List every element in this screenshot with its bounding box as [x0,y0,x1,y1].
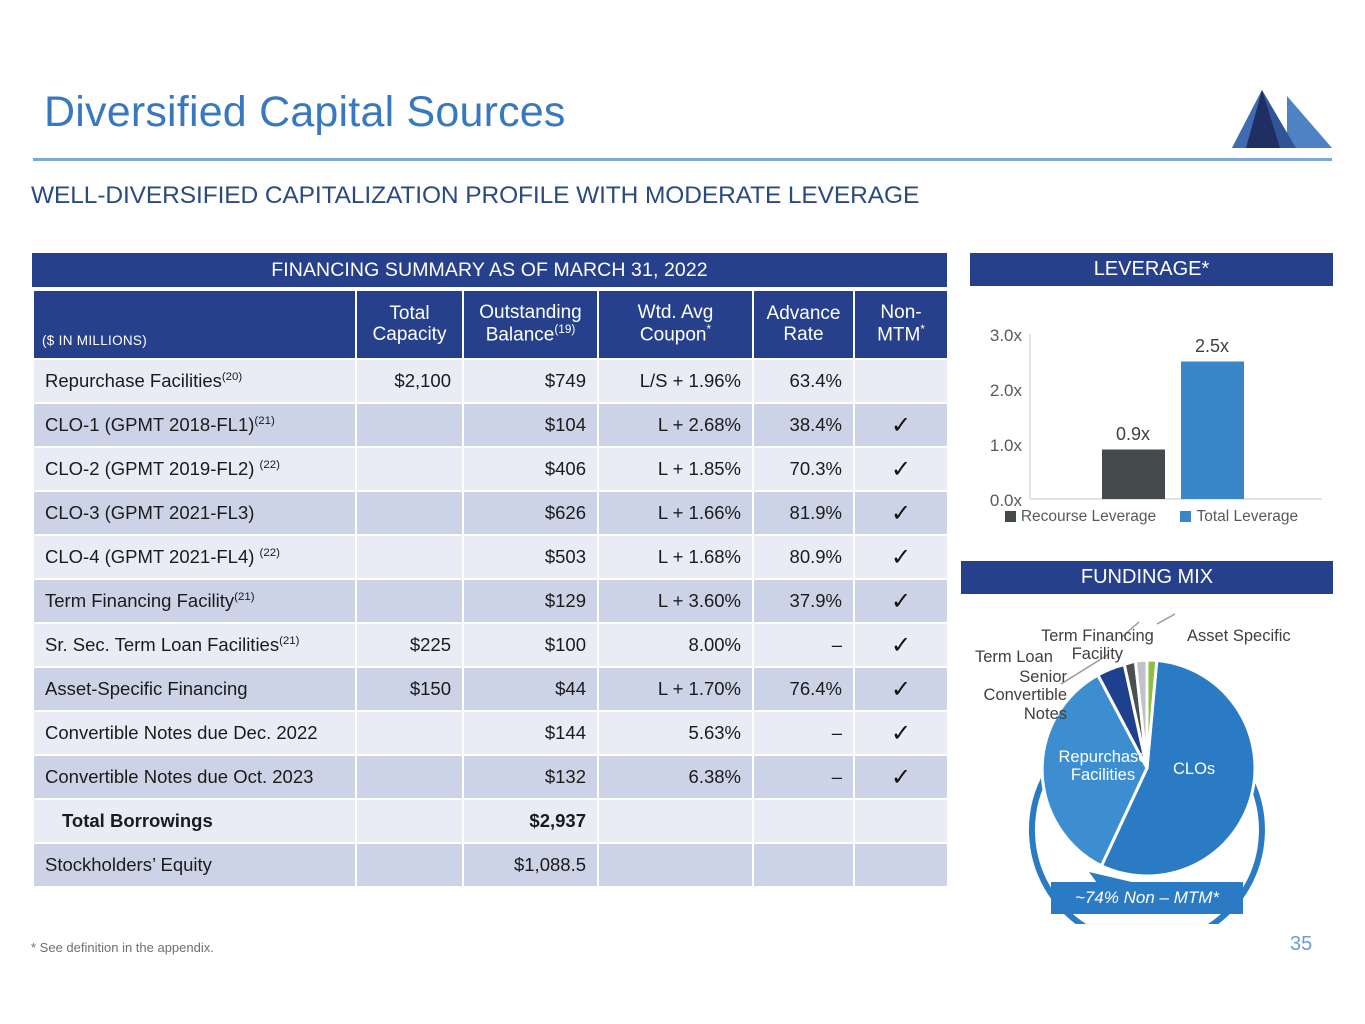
cell-outstanding-balance: $2,937 [463,799,598,843]
cell-total-capacity: $150 [356,667,463,711]
cell-advance-rate: 76.4% [753,667,854,711]
cell-advance-rate: 37.9% [753,579,854,623]
cell-wtd-avg-coupon [598,799,753,843]
cell-non-mtm-check: ✓ [854,579,948,623]
table-row: Stockholders’ Equity$1,088.5 [33,843,948,887]
cell-wtd-avg-coupon: L + 1.68% [598,535,753,579]
cell-advance-rate: 38.4% [753,403,854,447]
cell-outstanding-balance: $144 [463,711,598,755]
svg-text:2.0x: 2.0x [990,381,1023,400]
cell-wtd-avg-coupon: L + 2.68% [598,403,753,447]
legend-label-recourse: Recourse Leverage [1021,508,1156,525]
col-wtd-avg-coupon: Wtd. Avg Coupon* [598,290,753,359]
table-row: CLO-2 (GPMT 2019-FL2) (22)$406L + 1.85%7… [33,447,948,491]
cell-outstanding-balance: $104 [463,403,598,447]
cell-outstanding-balance: $406 [463,447,598,491]
row-label: Repurchase Facilities(20) [33,359,356,403]
pie-label-term-fin-line1: Term Financing [1041,627,1154,645]
table-row: CLO-4 (GPMT 2021-FL4) (22)$503L + 1.68%8… [33,535,948,579]
cell-advance-rate: 63.4% [753,359,854,403]
row-label: Asset-Specific Financing [33,667,356,711]
table-row: Asset-Specific Financing$150$44L + 1.70%… [33,667,948,711]
cell-total-capacity [356,535,463,579]
non-mtm-badge: ~74% Non – MTM* [1051,882,1243,914]
col-outstanding-balance-line1: Outstanding [479,302,581,323]
row-label: CLO-1 (GPMT 2018-FL1)(21) [33,403,356,447]
row-label: Convertible Notes due Dec. 2022 [33,711,356,755]
leverage-panel: LEVERAGE* 3.0x 2.0x 1.0x 0.0x 0.9x 2.5x … [970,253,1333,541]
table-row: Repurchase Facilities(20)$2,100$749L/S +… [33,359,948,403]
page-number: 35 [1290,933,1312,956]
svg-text:3.0x: 3.0x [990,326,1023,345]
leverage-banner: LEVERAGE* [970,253,1333,286]
title-divider [33,158,1332,161]
cell-non-mtm-check [854,359,948,403]
row-label-footnote: (22) [260,459,280,471]
pie-label-term-financing-facility: Term Financing Facility [1041,627,1154,664]
cell-total-capacity [356,799,463,843]
cell-outstanding-balance: $1,088.5 [463,843,598,887]
pie-label-repurchase-line2: Facilities [1071,766,1135,784]
pie-label-repurchase: Repurchase Facilities [1048,748,1158,785]
footnote: * See definition in the appendix. [31,940,214,955]
cell-advance-rate: – [753,711,854,755]
cell-non-mtm-check: ✓ [854,711,948,755]
cell-wtd-avg-coupon: 8.00% [598,623,753,667]
row-label-footnote: (21) [234,591,254,603]
financing-summary-banner: FINANCING SUMMARY AS OF MARCH 31, 2022 [32,253,947,287]
cell-advance-rate: 80.9% [753,535,854,579]
cell-outstanding-balance: $129 [463,579,598,623]
col-wtd-avg-coupon-footnote: * [706,323,711,336]
mountain-logo [1232,88,1332,154]
cell-advance-rate: – [753,755,854,799]
pie-label-senior-line2: Convertible [984,686,1067,704]
row-label: Term Financing Facility(21) [33,579,356,623]
page-title: Diversified Capital Sources [44,88,566,137]
cell-non-mtm-check: ✓ [854,447,948,491]
cell-wtd-avg-coupon: L + 1.70% [598,667,753,711]
funding-mix-pie-chart: CLOs Repurchase Facilities Term Loan Sen… [961,594,1333,924]
cell-total-capacity: $2,100 [356,359,463,403]
cell-wtd-avg-coupon: L + 3.60% [598,579,753,623]
cell-wtd-avg-coupon: 6.38% [598,755,753,799]
pie-label-senior-line3: Notes [1024,705,1067,723]
pie-label-senior-line1: Senior [1019,668,1067,686]
financing-summary-panel: FINANCING SUMMARY AS OF MARCH 31, 2022 (… [32,253,947,888]
cell-outstanding-balance: $749 [463,359,598,403]
svg-text:0.9x: 0.9x [1116,424,1150,444]
units-label: ($ IN MILLIONS) [33,290,356,359]
leverage-bar-chart: 3.0x 2.0x 1.0x 0.0x 0.9x 2.5x 3/31/2022 … [970,286,1333,541]
col-wtd-avg-coupon-line1: Wtd. Avg [638,302,714,323]
pie-label-senior-convertible-notes: Senior Convertible Notes [967,668,1067,723]
table-row: CLO-1 (GPMT 2018-FL1)(21)$104L + 2.68%38… [33,403,948,447]
legend-label-total: Total Leverage [1196,508,1298,525]
col-outstanding-balance-line2: Balance [486,324,555,345]
legend-item-recourse: Recourse Leverage [1005,508,1156,526]
cell-advance-rate: – [753,623,854,667]
cell-wtd-avg-coupon: L/S + 1.96% [598,359,753,403]
row-label: Sr. Sec. Term Loan Facilities(21) [33,623,356,667]
cell-non-mtm-check: ✓ [854,623,948,667]
row-label: Convertible Notes due Oct. 2023 [33,755,356,799]
cell-wtd-avg-coupon: 5.63% [598,711,753,755]
cell-non-mtm-check [854,799,948,843]
cell-non-mtm-check: ✓ [854,491,948,535]
row-label: CLO-4 (GPMT 2021-FL4) (22) [33,535,356,579]
cell-non-mtm-check: ✓ [854,403,948,447]
col-total-capacity-line1: Total [389,303,429,324]
col-non-mtm-footnote: * [920,323,925,336]
cell-non-mtm-check: ✓ [854,667,948,711]
col-outstanding-balance-footnote: (19) [554,323,575,336]
cell-advance-rate [753,799,854,843]
cell-advance-rate: 70.3% [753,447,854,491]
col-outstanding-balance: Outstanding Balance(19) [463,290,598,359]
leverage-legend: Recourse Leverage Total Leverage [970,508,1333,526]
table-row: Total Borrowings$2,937 [33,799,948,843]
row-label-footnote: (22) [260,547,280,559]
table-row: CLO-3 (GPMT 2021-FL3)$626L + 1.66%81.9%✓ [33,491,948,535]
pie-label-term-fin-line2: Facility [1072,645,1123,663]
col-advance-rate-line2: Rate [783,324,823,345]
cell-outstanding-balance: $626 [463,491,598,535]
row-label: CLO-2 (GPMT 2019-FL2) (22) [33,447,356,491]
cell-total-capacity [356,579,463,623]
table-row: Sr. Sec. Term Loan Facilities(21)$225$10… [33,623,948,667]
pie-label-asset-specific: Asset Specific [1187,627,1291,645]
legend-item-total: Total Leverage [1180,508,1298,526]
table-header-row: ($ IN MILLIONS) Total Capacity Outstandi… [33,290,948,359]
table-row: Convertible Notes due Oct. 2023$1326.38%… [33,755,948,799]
col-non-mtm: Non- MTM* [854,290,948,359]
cell-total-capacity [356,755,463,799]
row-label: CLO-3 (GPMT 2021-FL3) [33,491,356,535]
col-non-mtm-line2: MTM [877,324,920,345]
cell-total-capacity [356,403,463,447]
pie-label-repurchase-line1: Repurchase [1059,748,1148,766]
cell-wtd-avg-coupon [598,843,753,887]
row-label: Stockholders’ Equity [33,843,356,887]
row-label-footnote: (20) [222,371,242,383]
cell-outstanding-balance: $44 [463,667,598,711]
cell-non-mtm-check: ✓ [854,755,948,799]
funding-mix-panel: FUNDING MIX CLOs [961,561,1333,924]
pie-label-clos: CLOs [1173,760,1215,778]
col-advance-rate: Advance Rate [753,290,854,359]
legend-swatch-total [1180,511,1191,522]
cell-total-capacity [356,491,463,535]
row-label-footnote: (21) [279,635,299,647]
row-label: Total Borrowings [33,799,356,843]
cell-total-capacity: $225 [356,623,463,667]
table-row: Term Financing Facility(21)$129L + 3.60%… [33,579,948,623]
row-label-footnote: (21) [254,415,274,427]
cell-total-capacity [356,447,463,491]
legend-swatch-recourse [1005,511,1016,522]
cell-total-capacity [356,711,463,755]
col-advance-rate-line1: Advance [767,303,841,324]
svg-text:1.0x: 1.0x [990,436,1023,455]
cell-outstanding-balance: $132 [463,755,598,799]
cell-total-capacity [356,843,463,887]
col-total-capacity: Total Capacity [356,290,463,359]
cell-non-mtm-check [854,843,948,887]
cell-wtd-avg-coupon: L + 1.85% [598,447,753,491]
cell-wtd-avg-coupon: L + 1.66% [598,491,753,535]
col-non-mtm-line1: Non- [880,302,921,323]
cell-outstanding-balance: $503 [463,535,598,579]
cell-advance-rate: 81.9% [753,491,854,535]
financing-summary-table: ($ IN MILLIONS) Total Capacity Outstandi… [32,289,949,888]
page-subtitle: WELL-DIVERSIFIED CAPITALIZATION PROFILE … [31,182,919,210]
table-row: Convertible Notes due Dec. 2022$1445.63%… [33,711,948,755]
cell-outstanding-balance: $100 [463,623,598,667]
funding-mix-banner: FUNDING MIX [961,561,1333,594]
cell-advance-rate [753,843,854,887]
col-wtd-avg-coupon-line2: Coupon [640,324,707,345]
col-total-capacity-line2: Capacity [373,324,447,345]
cell-non-mtm-check: ✓ [854,535,948,579]
svg-text:2.5x: 2.5x [1195,336,1229,356]
